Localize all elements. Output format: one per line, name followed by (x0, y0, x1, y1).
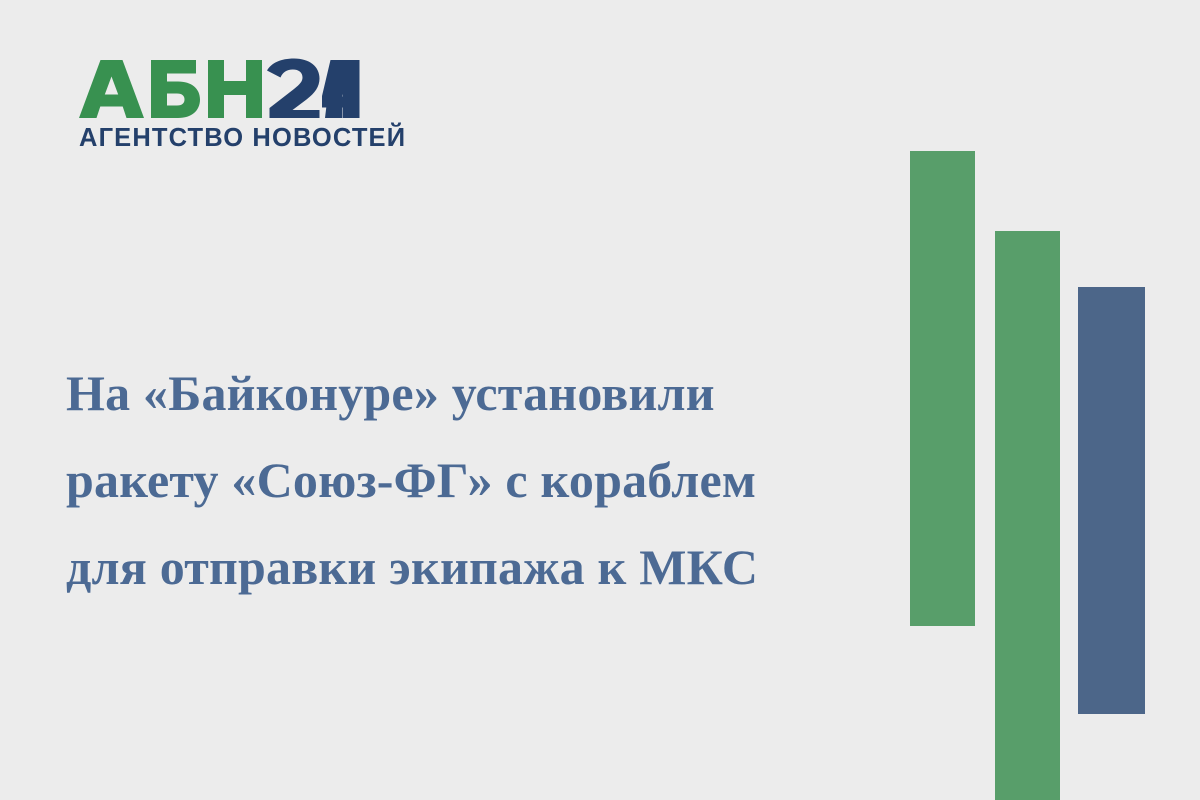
headline-line-1: На «Байконуре» установили (66, 350, 876, 437)
brand-logo[interactable]: АГЕНТСТВО НОВОСТЕЙ (78, 58, 368, 158)
decorative-bar-2 (995, 231, 1060, 800)
decorative-bar-3 (1078, 287, 1145, 714)
news-card: АГЕНТСТВО НОВОСТЕЙ На «Байконуре» устано… (0, 0, 1200, 800)
decorative-bar-1 (910, 151, 975, 626)
headline-line-2: ракету «Союз-ФГ» с кораблем (66, 437, 876, 524)
logo-wordmark-abn24-icon (78, 58, 360, 120)
headline: На «Байконуре» установили ракету «Союз-Ф… (66, 350, 876, 611)
logo-tagline: АГЕНТСТВО НОВОСТЕЙ (79, 126, 406, 152)
headline-line-3: для отправки экипажа к МКС (66, 524, 876, 611)
